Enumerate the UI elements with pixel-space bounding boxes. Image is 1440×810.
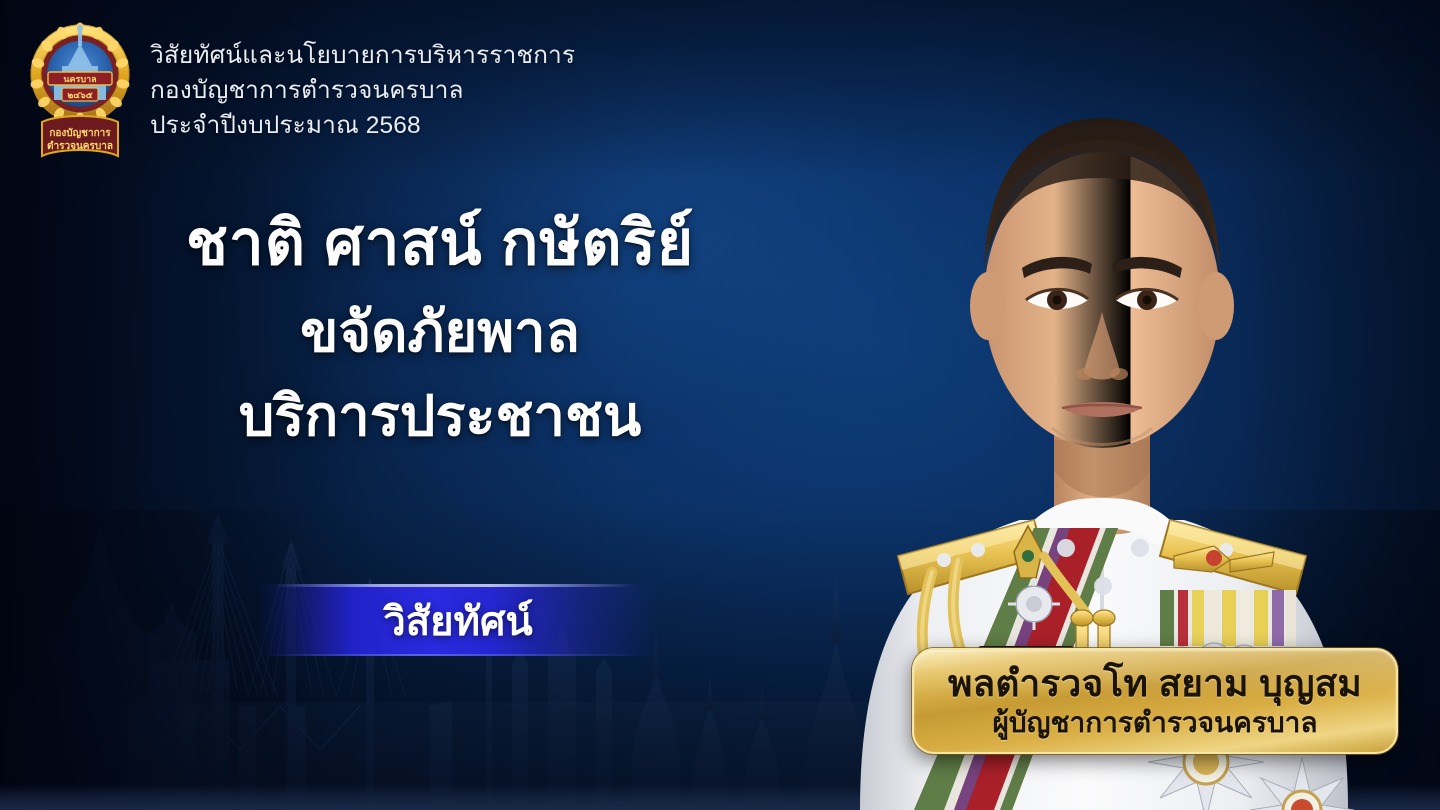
vision-board-slide: นครบาล ๒๔๖๕ กองบัญชาการ ตำรวจนครบาล วิสั… — [0, 0, 1440, 810]
commissioner-nameplate: พลตำรวจโท สยาม บุญสม ผู้บัญชาการตำรวจนคร… — [912, 648, 1398, 754]
emblem-year: ๒๔๖๕ — [67, 90, 92, 100]
header: นครบาล ๒๔๖๕ กองบัญชาการ ตำรวจนครบาล วิสั… — [28, 16, 575, 164]
emblem-ribbon-line-2: ตำรวจนครบาล — [47, 140, 113, 152]
slogan-line-1: ชาติ ศาสน์ กษัตริย์ — [0, 205, 880, 283]
slogan-line-3: บริการประชาชน — [0, 381, 880, 451]
header-title-block: วิสัยทัศน์และนโยบายการบริหารราชการ กองบั… — [150, 16, 575, 143]
emblem-ribbon-line-1: กองบัญชาการ — [49, 127, 111, 139]
slogan-block: ชาติ ศาสน์ กษัตริย์ ขจัดภัยพาล บริการประ… — [0, 205, 880, 451]
header-line-2: กองบัญชาการตำรวจนครบาล — [150, 73, 575, 108]
header-line-1: วิสัยทัศน์และนโยบายการบริหารราชการ — [150, 38, 575, 73]
header-line-3: ประจำปีงบประมาณ 2568 — [150, 108, 575, 143]
commissioner-role: ผู้บัญชาการตำรวจนครบาล — [992, 707, 1317, 739]
metropolitan-police-bureau-emblem-icon: นครบาล ๒๔๖๕ กองบัญชาการ ตำรวจนครบาล — [28, 16, 132, 164]
commissioner-name: พลตำรวจโท สยาม บุญสม — [948, 663, 1362, 704]
vision-banner-label: วิสัยทัศน์ — [258, 588, 658, 654]
svg-text:นครบาล: นครบาล — [63, 74, 96, 84]
slogan-line-2: ขจัดภัยพาล — [0, 297, 880, 367]
